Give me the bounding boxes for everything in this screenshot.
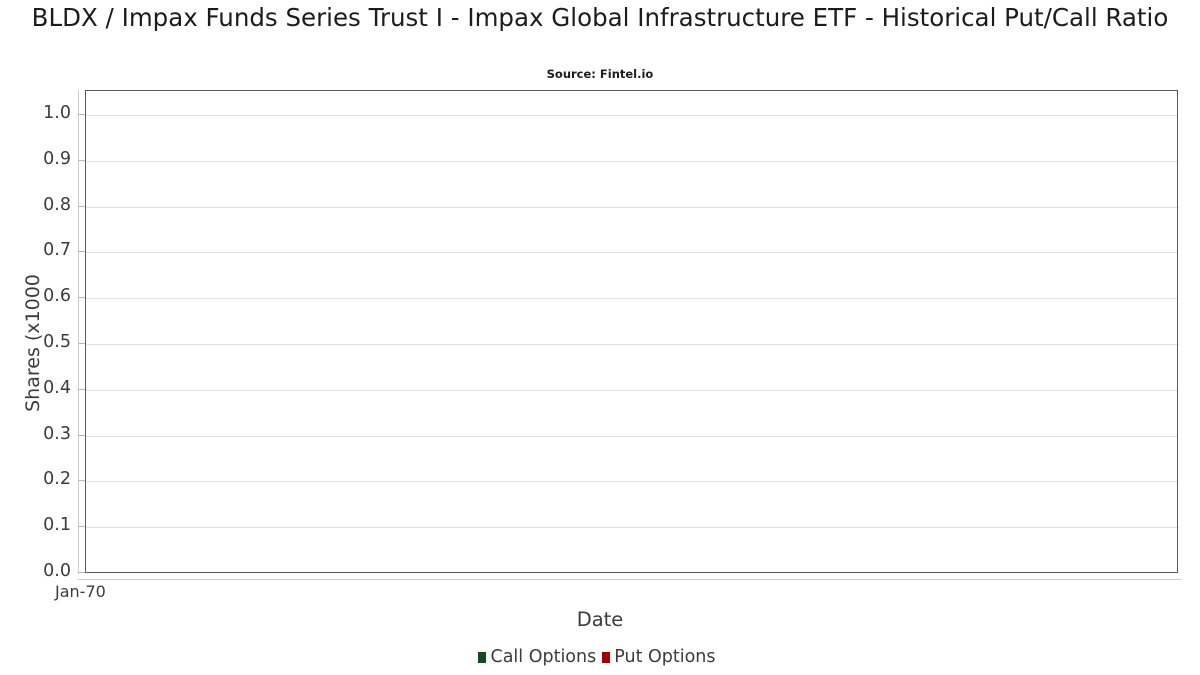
y-axis-tick-label: 0.3: [43, 424, 71, 444]
y-axis-tick-label: 0.7: [43, 240, 71, 260]
y-axis-tick-label: 0.6: [43, 286, 71, 306]
x-axis-tick-label: Jan-70: [55, 582, 106, 601]
y-axis-tick-label: 0.0: [43, 561, 71, 581]
chart-title: BLDX / Impax Funds Series Trust I - Impa…: [0, 2, 1200, 34]
gridline: [86, 298, 1177, 299]
y-axis-tick-label: 0.2: [43, 469, 71, 489]
y-axis-tick-mark: [78, 435, 85, 436]
chart-source-subtitle: Source: Fintel.io: [0, 67, 1200, 81]
y-axis-tick-mark: [78, 297, 85, 298]
gridline: [86, 252, 1177, 253]
y-axis-tick-mark: [78, 114, 85, 115]
y-axis-tick-mark: [78, 160, 85, 161]
x-axis-label: Date: [0, 608, 1200, 631]
gridline: [86, 527, 1177, 528]
y-axis-tick-mark: [78, 343, 85, 344]
legend-item[interactable]: Put Options: [602, 647, 715, 667]
x-axis-ticks: Jan-70: [0, 582, 1200, 608]
legend-color-swatch: [478, 652, 486, 663]
gridline: [86, 207, 1177, 208]
y-axis-tick-label: 0.4: [43, 378, 71, 398]
y-axis-tick-mark: [78, 480, 85, 481]
y-axis-tick-mark: [78, 389, 85, 390]
legend-color-swatch: [602, 652, 610, 663]
y-axis-tick-label: 0.9: [43, 149, 71, 169]
y-axis-tick-label: 0.1: [43, 515, 71, 535]
gridline: [86, 344, 1177, 345]
gridline: [86, 481, 1177, 482]
gridline: [86, 390, 1177, 391]
legend-label: Call Options: [490, 647, 596, 667]
gridline: [86, 115, 1177, 116]
y-axis-tick-mark: [78, 251, 85, 252]
y-axis-tick-mark: [78, 206, 85, 207]
legend-label: Put Options: [614, 647, 715, 667]
gridline: [86, 161, 1177, 162]
y-axis-tick-mark: [78, 572, 85, 573]
gridline: [86, 436, 1177, 437]
legend-item[interactable]: Call Options: [478, 647, 596, 667]
y-axis-tick-label: 0.5: [43, 332, 71, 352]
y-axis-tick-label: 1.0: [43, 103, 71, 123]
y-axis-tick-mark: [78, 526, 85, 527]
chart-legend: Call OptionsPut Options: [0, 647, 1200, 667]
plot-area: [85, 90, 1178, 573]
x-axis-spine: [78, 579, 1182, 580]
y-axis-tick-label: 0.8: [43, 195, 71, 215]
y-axis-label: Shares (x1000: [22, 113, 44, 573]
